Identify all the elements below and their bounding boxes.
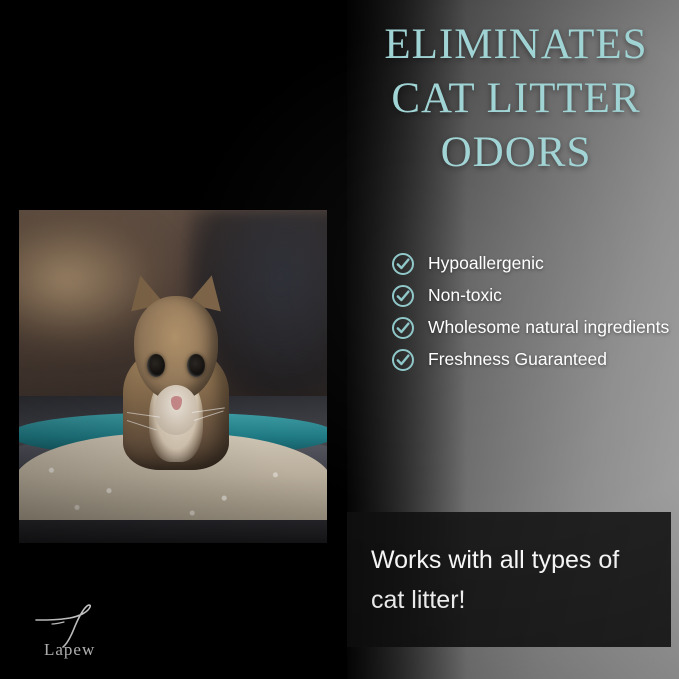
headline-line-2: CAT LITTER: [360, 72, 672, 126]
check-circle-icon: [391, 316, 415, 340]
check-circle-icon: [391, 252, 415, 276]
feature-label: Wholesome natural ingredients: [428, 315, 669, 340]
list-item: Freshness Guaranteed: [391, 347, 676, 372]
kitten: [121, 277, 232, 470]
feature-label: Freshness Guaranteed: [428, 347, 607, 372]
headline-line-3: ODORS: [360, 126, 672, 180]
brand-logo: Lapew: [32, 604, 152, 662]
list-item: Non-toxic: [391, 283, 676, 308]
check-circle-icon: [391, 348, 415, 372]
feature-list: Hypoallergenic Non-toxic Wholesome natur…: [391, 251, 676, 379]
callout-box: Works with all types of cat litter!: [347, 512, 671, 647]
list-item: Wholesome natural ingredients: [391, 315, 676, 340]
product-photo: [19, 210, 327, 543]
kitten-eye-left: [147, 354, 165, 377]
headline: ELIMINATES CAT LITTER ODORS: [360, 18, 672, 180]
feature-label: Hypoallergenic: [428, 251, 544, 276]
list-item: Hypoallergenic: [391, 251, 676, 276]
check-circle-icon: [391, 284, 415, 308]
headline-line-1: ELIMINATES: [360, 18, 672, 72]
kitten-eye-right: [187, 354, 205, 377]
callout-text: Works with all types of cat litter!: [371, 540, 649, 620]
advertisement-image: ELIMINATES CAT LITTER ODORS: [0, 0, 679, 679]
kitten-nose: [171, 396, 182, 410]
photo-floor: [19, 520, 327, 543]
feature-label: Non-toxic: [428, 283, 502, 308]
brand-name: Lapew: [44, 640, 95, 660]
